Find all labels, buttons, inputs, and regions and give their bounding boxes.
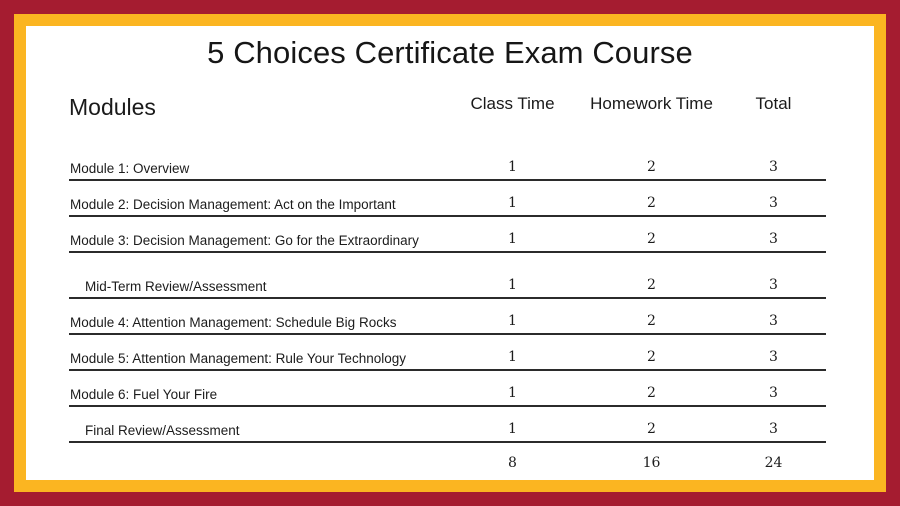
cell-class-time: 1 — [443, 406, 582, 442]
cell-module-label: Module 3: Decision Management: Go for th… — [69, 216, 443, 252]
cell-totals-label — [69, 442, 443, 479]
table-row: Module 2: Decision Management: Act on th… — [69, 180, 826, 216]
cell-homework-time: 2 — [582, 334, 721, 370]
cell-module-label: Final Review/Assessment — [69, 406, 443, 442]
cell-class-time: 1 — [443, 334, 582, 370]
cell-class-time: 1 — [443, 180, 582, 216]
table-header-row: Modules Class Time Homework Time Total — [69, 94, 826, 145]
column-header-total: Total — [721, 94, 826, 145]
column-header-modules: Modules — [69, 94, 443, 145]
table-head: Modules Class Time Homework Time Total — [69, 94, 826, 145]
modules-table-wrapper: Modules Class Time Homework Time Total M… — [69, 94, 826, 479]
cell-total: 3 — [721, 145, 826, 180]
cell-homework-time: 2 — [582, 298, 721, 334]
table-row: Module 6: Fuel Your Fire 1 2 3 — [69, 370, 826, 406]
cell-homework-time: 2 — [582, 406, 721, 442]
column-header-homework-time: Homework Time — [582, 94, 721, 145]
cell-total: 3 — [721, 298, 826, 334]
slide-canvas: 5 Choices Certificate Exam Course Module… — [26, 26, 874, 480]
table-row: Module 4: Attention Management: Schedule… — [69, 298, 826, 334]
cell-class-time: 1 — [443, 298, 582, 334]
cell-module-label: Module 6: Fuel Your Fire — [69, 370, 443, 406]
cell-homework-time: 2 — [582, 145, 721, 180]
cell-module-label: Module 2: Decision Management: Act on th… — [69, 180, 443, 216]
table-row: Final Review/Assessment 1 2 3 — [69, 406, 826, 442]
table-row: Module 1: Overview 1 2 3 — [69, 145, 826, 180]
cell-module-label: Module 4: Attention Management: Schedule… — [69, 298, 443, 334]
table-row: Module 5: Attention Management: Rule You… — [69, 334, 826, 370]
table-body: Module 1: Overview 1 2 3 Module 2: Decis… — [69, 145, 826, 479]
table-totals-row: 8 16 24 — [69, 442, 826, 479]
column-header-class-time: Class Time — [443, 94, 582, 145]
cell-totals-total: 24 — [721, 442, 826, 479]
cell-total: 3 — [721, 406, 826, 442]
cell-class-time: 1 — [443, 370, 582, 406]
cell-class-time: 1 — [443, 145, 582, 180]
cell-homework-time: 2 — [582, 216, 721, 252]
cell-totals-class-time: 8 — [443, 442, 582, 479]
slide-root: 5 Choices Certificate Exam Course Module… — [0, 0, 900, 506]
cell-homework-time: 2 — [582, 180, 721, 216]
cell-module-label: Module 5: Attention Management: Rule You… — [69, 334, 443, 370]
cell-class-time: 1 — [443, 252, 582, 298]
table-row: Module 3: Decision Management: Go for th… — [69, 216, 826, 252]
cell-homework-time: 2 — [582, 252, 721, 298]
cell-module-label: Mid-Term Review/Assessment — [69, 252, 443, 298]
cell-total: 3 — [721, 216, 826, 252]
modules-table: Modules Class Time Homework Time Total M… — [69, 94, 826, 479]
cell-total: 3 — [721, 180, 826, 216]
table-row: Mid-Term Review/Assessment 1 2 3 — [69, 252, 826, 298]
page-title: 5 Choices Certificate Exam Course — [26, 34, 874, 71]
cell-class-time: 1 — [443, 216, 582, 252]
cell-totals-homework-time: 16 — [582, 442, 721, 479]
cell-homework-time: 2 — [582, 370, 721, 406]
cell-total: 3 — [721, 334, 826, 370]
cell-total: 3 — [721, 252, 826, 298]
cell-module-label: Module 1: Overview — [69, 145, 443, 180]
cell-total: 3 — [721, 370, 826, 406]
